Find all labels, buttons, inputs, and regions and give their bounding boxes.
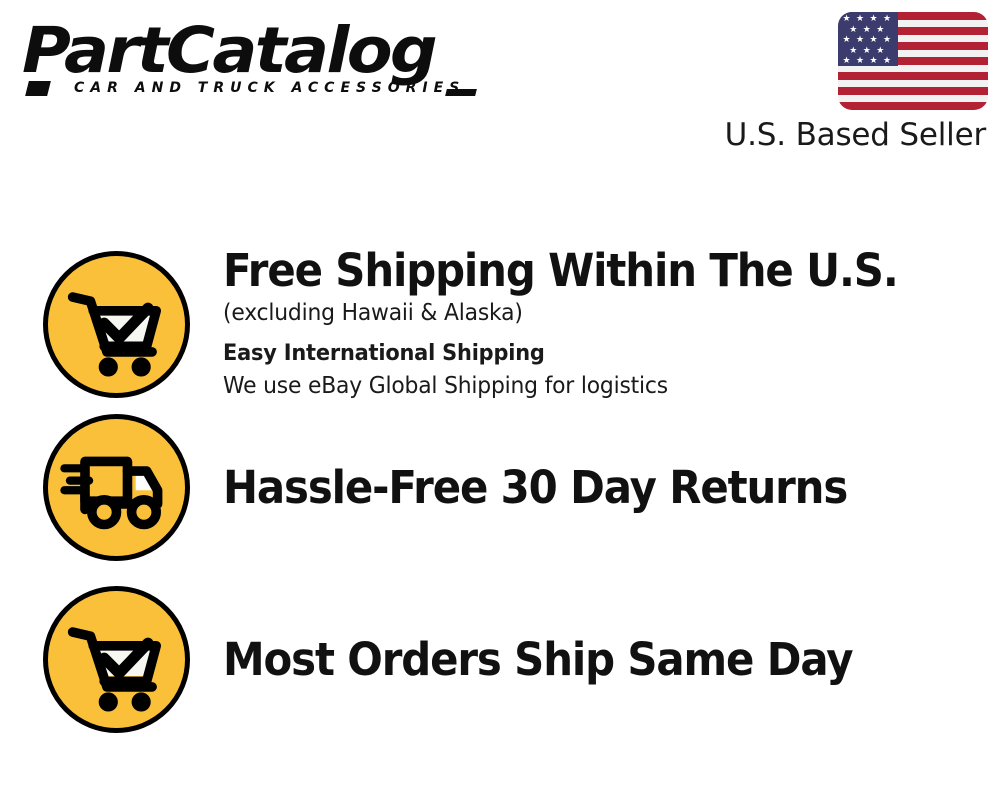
us-flag-icon <box>838 12 988 110</box>
benefit-row: Free Shipping Within The U.S. (excluding… <box>0 240 1000 408</box>
benefit-subtext-international-heading: Easy International Shipping <box>223 337 942 370</box>
spacer <box>223 330 980 337</box>
flag-stars <box>838 12 988 110</box>
logo-slab-right-icon <box>445 89 477 96</box>
benefit-text-block: Most Orders Ship Same Day <box>223 634 1000 686</box>
shopping-cart-check-icon <box>43 586 190 733</box>
brand-logo: PartCatalog CAR AND TRUCK ACCESSORIES <box>22 18 492 100</box>
us-based-seller-label: U.S. Based Seller <box>725 118 986 152</box>
benefit-text-block: Free Shipping Within The U.S. (excluding… <box>223 245 1000 403</box>
benefit-heading: Hassle-Free 30 Day Returns <box>223 462 927 514</box>
benefit-subtext-international-detail: We use eBay Global Shipping for logistic… <box>223 370 942 403</box>
benefit-row: Hassle-Free 30 Day Returns <box>0 410 1000 565</box>
benefit-heading: Free Shipping Within The U.S. <box>223 245 927 297</box>
header-banner: PartCatalog CAR AND TRUCK ACCESSORIES U.… <box>0 0 1000 175</box>
logo-slab-left-icon <box>25 81 51 96</box>
brand-tagline: CAR AND TRUCK ACCESSORIES <box>74 80 465 96</box>
brand-wordmark: PartCatalog <box>22 18 520 84</box>
delivery-truck-icon <box>43 414 190 561</box>
shopping-cart-check-icon <box>43 251 190 398</box>
benefit-subtext-exclusions: (excluding Hawaii & Alaska) <box>223 297 942 330</box>
benefit-text-block: Hassle-Free 30 Day Returns <box>223 462 1000 514</box>
brand-tagline-row: CAR AND TRUCK ACCESSORIES <box>22 80 492 100</box>
benefit-heading: Most Orders Ship Same Day <box>223 634 927 686</box>
benefit-row: Most Orders Ship Same Day <box>0 582 1000 737</box>
